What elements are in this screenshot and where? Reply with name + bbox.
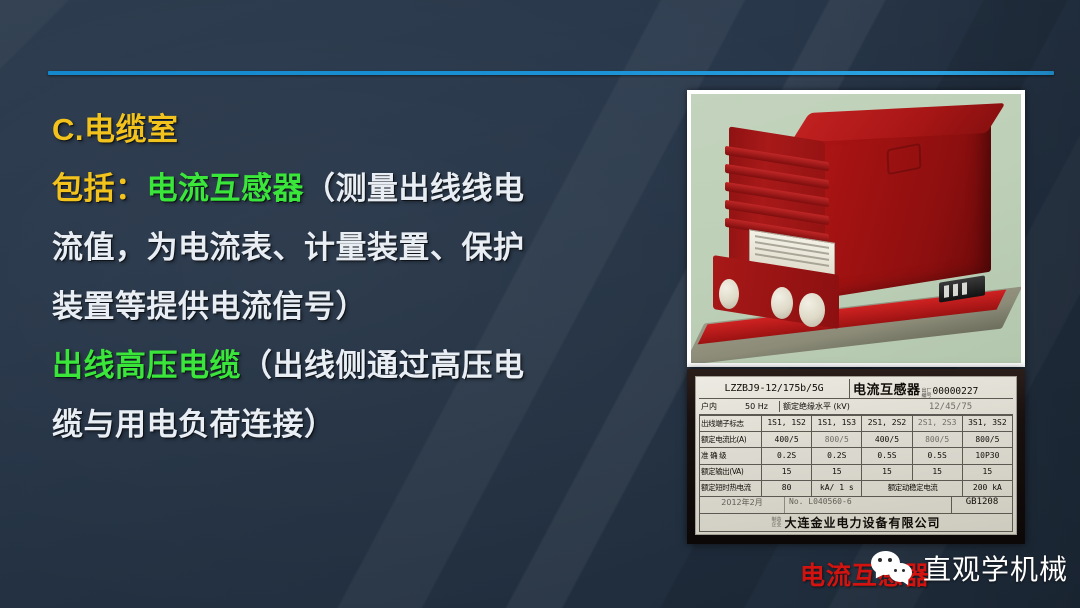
text-run-4b: （出线侧通过高压电: [241, 348, 525, 383]
nameplate-no-value: L040560-6: [808, 497, 851, 506]
nameplate-badge-line2: 编号: [922, 393, 932, 399]
cell: 80: [762, 480, 812, 496]
ct-photo: [691, 94, 1021, 363]
cell: 15: [812, 464, 862, 480]
nameplate-standard: GB1208: [951, 497, 1012, 513]
nameplate-header-row: LZZBJ9-12/175b/5G 电流互感器 出厂 编号 00000227: [699, 379, 1013, 399]
cell: 0.2S: [812, 448, 862, 464]
wechat-logo-icon: [871, 550, 917, 586]
nameplate-title-cell: 电流互感器 出厂 编号 00000227: [849, 379, 1013, 398]
nameplate-manufacturer-row: 制造 企业 大连金业电力设备有限公司: [699, 514, 1013, 532]
nameplate-serial-number: 00000227: [933, 386, 979, 397]
text-line-3: 装置等提供电流信号）: [52, 277, 652, 336]
row-label: 额定电流比(A): [700, 432, 762, 448]
page-title: C.电缆室: [52, 100, 652, 159]
text-line-4: 出线高压电缆（出线侧通过高压电: [52, 336, 652, 395]
cell: 3S1, 3S2: [962, 416, 1012, 432]
nameplate-serial-no: No. L040560-6: [784, 497, 951, 513]
cell: 10P30: [962, 448, 1012, 464]
table-row: 额定短时热电流 80 kA/ 1 s 额定动稳定电流 200 kA: [700, 480, 1013, 496]
cell: 15: [762, 464, 812, 480]
text-run-ct-term: 电流互感器: [147, 171, 305, 206]
ct-insulator: [771, 287, 793, 319]
row-label: 准 确 级: [700, 448, 762, 464]
nameplate-no-label: No.: [789, 497, 803, 506]
text-line-2: 流值，为电流表、计量装置、保护: [52, 218, 652, 277]
cell: 400/5: [762, 432, 812, 448]
ct-insulator: [799, 293, 825, 327]
cell: 1S1, 1S3: [812, 416, 862, 432]
nameplate-model: LZZBJ9-12/175b/5G: [699, 383, 849, 394]
nameplate-insulation-label: 额定绝缘水平 (kV): [779, 401, 888, 412]
text-line-5: 缆与用电负荷连接）: [52, 395, 652, 454]
text-run-include: 包括：: [52, 171, 147, 206]
nameplate-maker-prefix: 制造 企业: [771, 518, 781, 528]
ct-photo-frame: [687, 90, 1025, 367]
text-line-1: 包括：电流互感器（测量出线线电: [52, 159, 652, 218]
cell: 额定动稳定电流: [862, 480, 962, 496]
cell: 800/5: [912, 432, 962, 448]
cell: 800/5: [962, 432, 1012, 448]
nameplate-date: 2012年2月: [700, 497, 784, 513]
header-divider-rule: [48, 71, 1054, 75]
cell: 800/5: [812, 432, 862, 448]
nameplate-manufacturer-name: 大连金业电力设备有限公司: [785, 514, 941, 531]
ct-nameplate-photo: LZZBJ9-12/175b/5G 电流互感器 出厂 编号 00000227 户…: [687, 369, 1025, 544]
table-row: 额定电流比(A) 400/5 800/5 400/5 800/5 800/5: [700, 432, 1013, 448]
maker-prefix-line2: 企业: [771, 522, 781, 528]
cell: 15: [912, 464, 962, 480]
text-run-1c: （测量出线线电: [304, 171, 525, 206]
nameplate-serial-badge: 出厂 编号: [922, 389, 932, 399]
nameplate-indoor-mark: 户内: [699, 401, 745, 412]
cell: 0.2S: [762, 448, 812, 464]
cell: 2S1, 2S2: [862, 416, 912, 432]
cell: 400/5: [862, 432, 912, 448]
row-label: 额定输出(VA): [700, 464, 762, 480]
brand-name: 直观学机械: [923, 548, 1068, 588]
cell: 1S1, 1S2: [762, 416, 812, 432]
cell: 2S1, 2S3: [912, 416, 962, 432]
slide-canvas: C.电缆室 包括：电流互感器（测量出线线电 流值，为电流表、计量装置、保护 装置…: [0, 0, 1080, 608]
cell: 0.5S: [912, 448, 962, 464]
nameplate-frequency-unit: Hz: [758, 402, 768, 411]
nameplate-frequency: 50 Hz: [745, 402, 779, 411]
nameplate-frequency-value: 50: [745, 402, 755, 411]
ct-nameplate: LZZBJ9-12/175b/5G 电流互感器 出厂 编号 00000227 户…: [695, 376, 1017, 535]
row-label: 额定短时热电流: [700, 480, 762, 496]
cell: 15: [962, 464, 1012, 480]
cell: 200 kA: [962, 480, 1012, 496]
ct-insulator: [719, 279, 739, 309]
slide-text-block: C.电缆室 包括：电流互感器（测量出线线电 流值，为电流表、计量装置、保护 装置…: [52, 100, 652, 454]
nameplate-insulation-row: 户内 50 Hz 额定绝缘水平 (kV) 12/45/75: [699, 399, 1013, 415]
cell: kA/ 1 s: [812, 480, 862, 496]
nameplate-indoor-text: 户内: [701, 402, 717, 411]
nameplate-spec-table: 出线端子标志 1S1, 1S2 1S1, 1S3 2S1, 2S2 2S1, 2…: [699, 415, 1013, 497]
nameplate-product-name: 电流互感器: [853, 379, 921, 398]
text-run-hv-cable-term: 出线高压电缆: [52, 348, 241, 383]
cell: 15: [862, 464, 912, 480]
nameplate-insulation-value: 12/45/75: [888, 402, 1013, 412]
table-row: 准 确 级 0.2S 0.2S 0.5S 0.5S 10P30: [700, 448, 1013, 464]
row-label: 出线端子标志: [700, 416, 762, 432]
table-row: 额定输出(VA) 15 15 15 15 15: [700, 464, 1013, 480]
table-row: 出线端子标志 1S1, 1S2 1S1, 1S3 2S1, 2S2 2S1, 2…: [700, 416, 1013, 432]
cell: 0.5S: [862, 448, 912, 464]
brand-watermark: 直观学机械: [871, 548, 1068, 588]
nameplate-footer-row: 2012年2月 No. L040560-6 GB1208: [699, 497, 1013, 514]
